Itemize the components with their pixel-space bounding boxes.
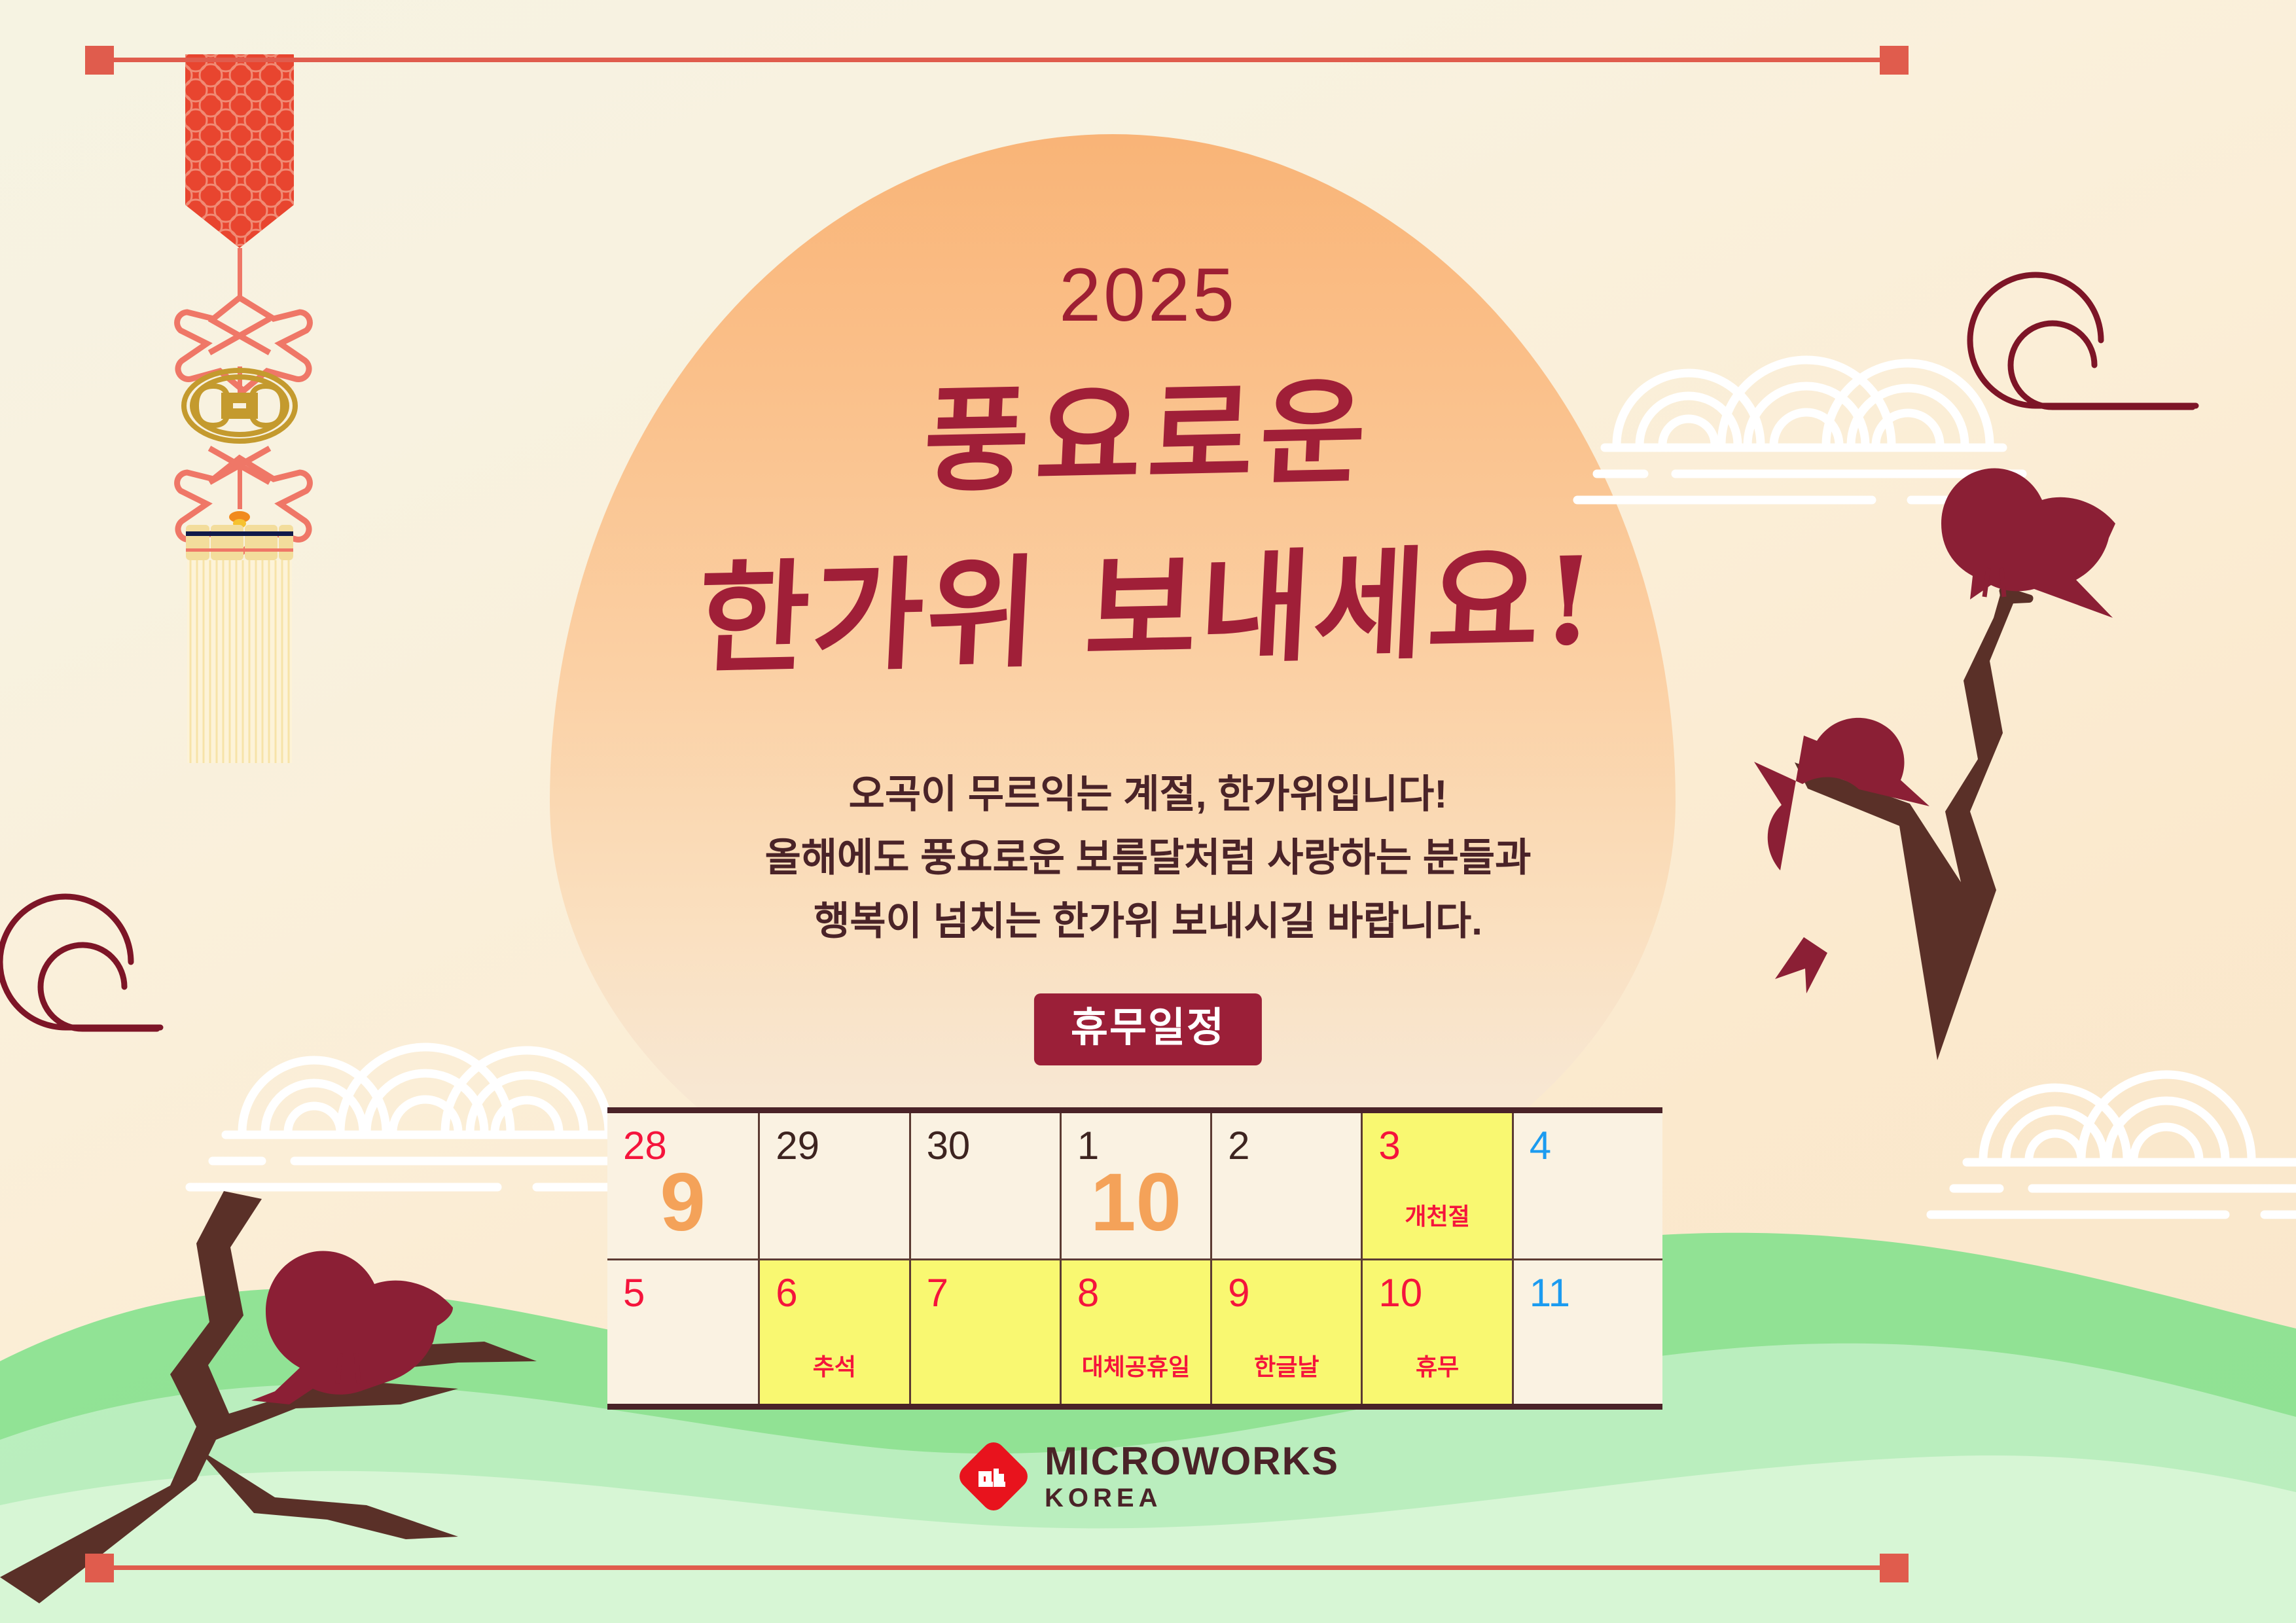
day-number: 7	[927, 1274, 948, 1313]
message-line-1: 오곡이 무르익는 계절, 한가위입니다!	[0, 762, 2296, 826]
greeting-message: 오곡이 무르익는 계절, 한가위입니다! 올해에도 풍요로운 보름달처럼 사랑하…	[0, 762, 2296, 954]
calendar-cell-day-7: 7	[909, 1258, 1060, 1404]
top-border-cap-right	[1880, 46, 1909, 75]
day-number: 29	[776, 1126, 819, 1166]
tassel-head	[186, 525, 293, 560]
holiday-label: 대체공휴일	[1062, 1355, 1210, 1379]
logo-region: KOREA	[1045, 1485, 1339, 1511]
day-number: 11	[1530, 1274, 1570, 1313]
logo-company-name: MICROWORKS	[1045, 1442, 1339, 1481]
calendar-cell-day-8: 8대체공휴일	[1060, 1258, 1210, 1404]
holiday-label: 한글날	[1212, 1355, 1361, 1379]
day-number: 5	[623, 1274, 645, 1313]
calendar-cell-day-29: 29	[758, 1113, 908, 1258]
calendar-bottom-border	[607, 1404, 1662, 1410]
year-label: 2025	[0, 252, 2296, 338]
day-number: 30	[927, 1126, 971, 1166]
holiday-label: 개천절	[1363, 1205, 1511, 1228]
calendar-cell-day-3: 3개천절	[1361, 1113, 1511, 1258]
day-number: 10	[1378, 1274, 1422, 1313]
bottom-border-cap-right	[1880, 1554, 1909, 1582]
calendar-cell-day-1: 110	[1060, 1113, 1210, 1258]
company-logo: MICROWORKS KOREA	[957, 1440, 1339, 1513]
message-line-2: 올해에도 풍요로운 보름달처럼 사랑하는 분들과	[0, 826, 2296, 889]
top-border-rule	[99, 58, 1906, 62]
holiday-calendar: 289293011023개천절456추석78대체공휴일9한글날10휴무11	[607, 1107, 1662, 1410]
top-border-cap-left	[85, 46, 114, 75]
day-number: 4	[1530, 1126, 1551, 1166]
calendar-cell-day-30: 30	[909, 1113, 1060, 1258]
calendar-cell-day-11: 11	[1512, 1258, 1662, 1404]
bottom-border-cap-left	[85, 1554, 114, 1582]
day-number: 2	[1228, 1126, 1249, 1166]
calendar-cell-day-2: 2	[1210, 1113, 1361, 1258]
month-marker: 9	[660, 1162, 706, 1243]
day-number: 9	[1228, 1274, 1249, 1313]
holiday-label: 추석	[760, 1355, 908, 1379]
calendar-cell-day-4: 4	[1512, 1113, 1662, 1258]
holiday-schedule-badge: 휴무일정	[1034, 993, 1262, 1065]
bottom-border-rule	[99, 1565, 1906, 1570]
calendar-cell-day-28: 289	[607, 1113, 758, 1258]
calendar-cell-day-9: 9한글날	[1210, 1258, 1361, 1404]
day-number: 8	[1077, 1274, 1099, 1313]
calendar-cell-day-5: 5	[607, 1258, 758, 1404]
calendar-top-border	[607, 1107, 1662, 1113]
day-number: 6	[776, 1274, 797, 1313]
message-line-3: 행복이 넘치는 한가위 보내시길 바랍니다.	[0, 889, 2296, 953]
day-number: 3	[1378, 1126, 1400, 1166]
microworks-mark-icon	[957, 1440, 1030, 1513]
month-marker: 10	[1090, 1162, 1181, 1243]
holiday-label: 휴무	[1363, 1355, 1511, 1379]
calendar-grid: 289293011023개천절456추석78대체공휴일9한글날10휴무11	[607, 1113, 1662, 1404]
chuseok-greeting-card: 2025 풍요로운 한가위 보내세요! 오곡이 무르익는 계절, 한가위입니다!…	[0, 0, 2296, 1623]
calendar-cell-day-6: 6추석	[758, 1258, 908, 1404]
calendar-cell-day-10: 10휴무	[1361, 1258, 1511, 1404]
